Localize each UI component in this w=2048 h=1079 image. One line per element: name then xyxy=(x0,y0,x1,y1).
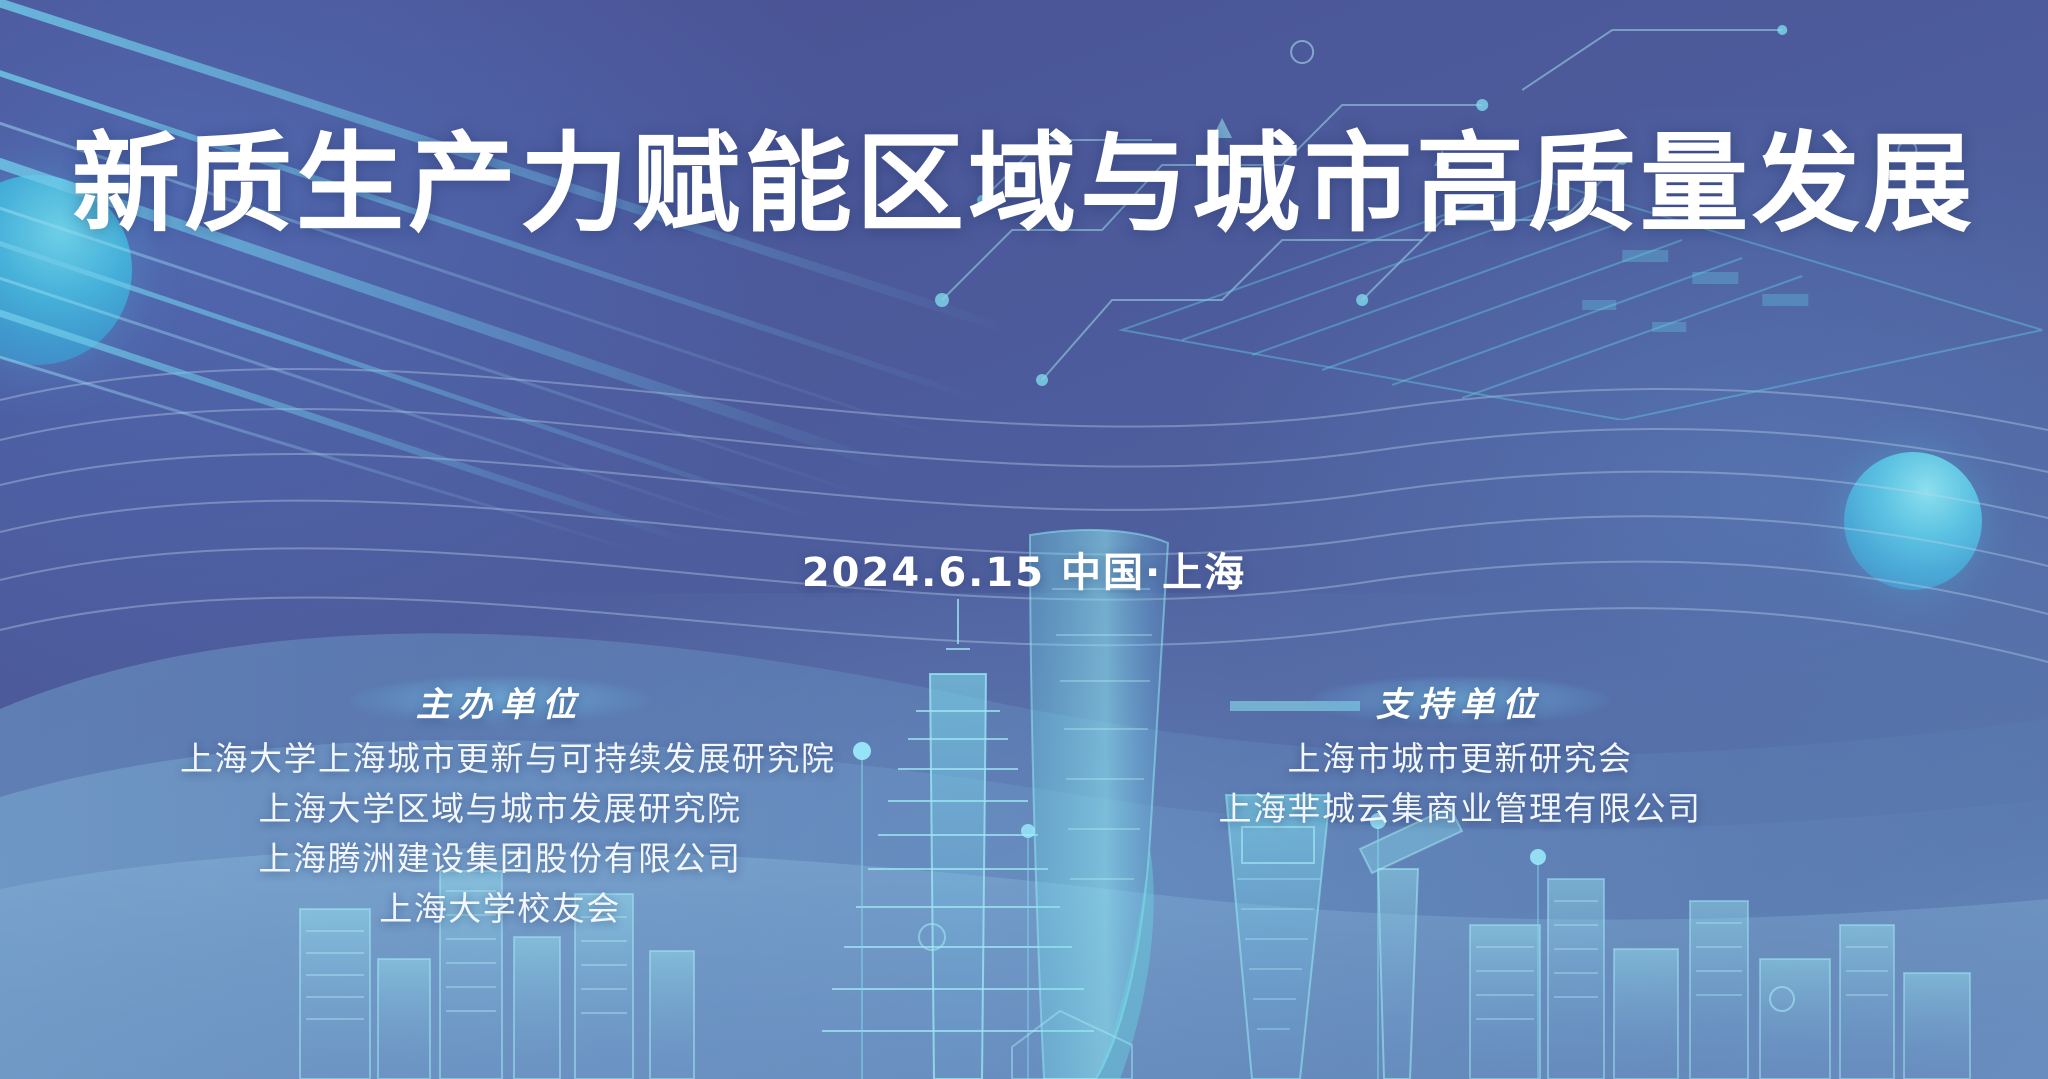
glow-top-left xyxy=(0,0,942,777)
list-item: 上海芈城云集商业管理有限公司 xyxy=(1180,784,1740,834)
organizers-heading: 主办单位 xyxy=(180,672,820,730)
organizers-heading-text: 主办单位 xyxy=(416,677,584,726)
supporters-heading: 支持单位 xyxy=(1180,672,1740,730)
list-item: 上海大学区域与城市发展研究院 xyxy=(180,784,820,834)
conference-banner: 新质生产力赋能区域与城市高质量发展 2024.6.15 中国·上海 主办单位 上… xyxy=(0,0,2048,1079)
page-title: 新质生产力赋能区域与城市高质量发展 xyxy=(0,128,2048,241)
list-item: 上海大学校友会 xyxy=(180,884,820,934)
shanghai-tower-icon xyxy=(1030,530,1168,1079)
organizers-column: 主办单位 上海大学上海城市更新与可持续发展研究院 上海大学区域与城市发展研究院 … xyxy=(180,672,820,935)
wave-lines-decor xyxy=(0,280,2048,700)
supporters-list: 上海市城市更新研究会 上海芈城云集商业管理有限公司 xyxy=(1180,734,1740,834)
supporters-heading-text: 支持单位 xyxy=(1376,677,1544,726)
tech-lines-decor xyxy=(0,0,2048,560)
supporters-column: 支持单位 上海市城市更新研究会 上海芈城云集商业管理有限公司 xyxy=(1180,672,1740,834)
list-item: 上海腾洲建设集团股份有限公司 xyxy=(180,834,820,884)
date-location-text: 2024.6.15 中国·上海 xyxy=(0,540,2048,598)
list-item: 上海大学上海城市更新与可持续发展研究院 xyxy=(180,734,820,784)
date-block: 2024.6.15 中国·上海 xyxy=(0,540,2048,598)
organizers-list: 上海大学上海城市更新与可持续发展研究院 上海大学区域与城市发展研究院 上海腾洲建… xyxy=(180,734,820,935)
title-block: 新质生产力赋能区域与城市高质量发展 xyxy=(0,128,2048,241)
list-item: 上海市城市更新研究会 xyxy=(1180,734,1740,784)
